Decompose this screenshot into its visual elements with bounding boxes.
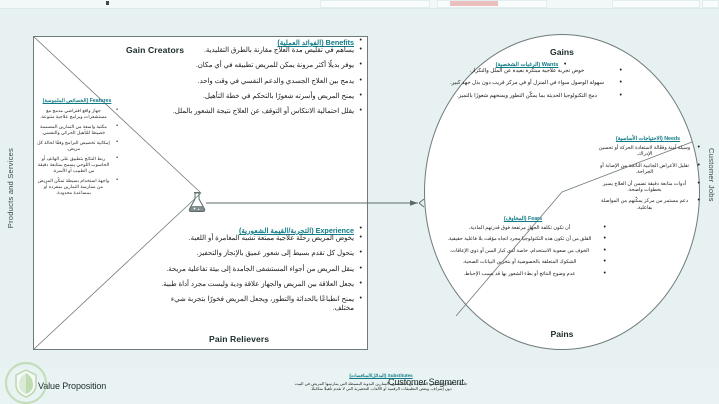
connector-arrow <box>206 198 428 210</box>
list-item: إمكانية تخصيص البرامج وفقًا لحالة كل مري… <box>36 140 118 152</box>
header-needs: Needs (الاحتياجات الأساسية) <box>596 136 700 142</box>
list-item: ربط النتائج بتطبيق على الهاتف أو الحاسوب… <box>36 156 118 174</box>
list-item: يدمج بين العلاج الجسدي والدعم النفسي في … <box>148 78 362 87</box>
label-products-and-services: Products and Services <box>6 148 15 228</box>
substitutes-text: جلسات العلاج الطبيعي التقليدية مع المختص… <box>292 381 470 392</box>
toolbar-highlight <box>450 1 498 6</box>
toolbar-cursor-mark <box>106 1 109 5</box>
list-item: عدم وضوح النتائج أو بطء الشعور بها قد يس… <box>440 271 606 277</box>
list-item: يجعل العلاقة بين المريض والجهاز علاقة ود… <box>148 281 362 290</box>
list-item: دمج التكنولوجيا الحديثة بما يمكّن التطور… <box>440 93 622 100</box>
wants-list: خوض تجربة علاجية مبتكرة بعيدة عن الملل و… <box>440 68 622 100</box>
list-item: الخوف من صعوبة الاستخدام، خاصة لدى كبار … <box>440 248 606 254</box>
toolbar-field-3[interactable] <box>612 0 700 8</box>
list-item: واجهة استخدام بسيطة تمكّن المريض من ممار… <box>36 178 118 196</box>
list-item: يخوض المريض رحلة علاجية ممتعة تشبه المغا… <box>148 235 362 244</box>
header-substitutes: Substitutes (البدائل/المنافسات) <box>292 373 470 379</box>
list-item: يتحول كل تقدم بسيط إلى شعور عميق بالإنجا… <box>148 250 362 259</box>
list-item: أن تكون تكلفة الجهاز مرتفعة فوق قدرتهم ا… <box>440 225 606 231</box>
caption-value-proposition: Value Proposition <box>38 381 106 391</box>
shield-leaf-logo <box>4 362 48 404</box>
experience-list: يخوض المريض رحلة علاجية ممتعة تشبه المغا… <box>148 235 362 314</box>
title-pain-relievers: Pain Relievers <box>209 334 269 344</box>
title-gains: Gains <box>425 47 699 57</box>
partial-toolbar-strip <box>0 0 719 9</box>
list-item: القلق من أن تكون هذه التكنولوجيا مجرد ات… <box>440 236 606 242</box>
flask-icon <box>186 190 208 214</box>
label-customer-jobs: Customer Jobs <box>707 148 716 202</box>
list-item: مكتبة واسعة من التمارين المصممة خصيصًا ل… <box>36 124 118 136</box>
header-benefits: Benefits (الفوائد العملية) <box>277 38 354 47</box>
section-needs: Needs (الاحتياجات الأساسية) وسيلة آمنة و… <box>596 136 700 216</box>
section-wants: Wants (الرغبات الشخصية) خوض تجربة علاجية… <box>440 62 622 105</box>
title-pains: Pains <box>425 329 699 339</box>
header-experience: Experience (التجربة/القيمة الشعورية) <box>239 226 354 235</box>
list-item: الشكوك المتعلقة بالخصوصية أو بتخزين البي… <box>440 259 606 265</box>
section-features: Features (الخصائص الملموسة) جهاز واقع اف… <box>36 98 118 200</box>
fears-list: أن تكون تكلفة الجهاز مرتفعة فوق قدرتهم ا… <box>440 225 606 277</box>
needs-list: وسيلة آمنة وفعّالة لاستعادة الحركة أو تح… <box>596 145 700 211</box>
benefits-list: يساهم في تقليص مدة العلاج مقارنة بالطرق … <box>148 47 362 117</box>
value-proposition-canvas: Products and Services Customer Jobs Gain… <box>0 0 719 404</box>
header-features: Features (الخصائص الملموسة) <box>36 98 118 105</box>
list-item: يساهم في تقليص مدة العلاج مقارنة بالطرق … <box>148 47 362 56</box>
list-item: يمنح انطباعًا بالحداثة والتطور، ويجعل ال… <box>148 296 362 314</box>
features-list: جهاز واقع افتراضي مدمج مع مستشعرات وبرام… <box>36 108 118 196</box>
list-item: يمنح المريض وأسرته شعورًا بالتحكم في خطة… <box>148 93 362 102</box>
section-experience: Experience (التجربة/القيمة الشعورية) يخو… <box>148 226 362 320</box>
toolbar-field-1[interactable] <box>320 0 430 8</box>
toolbar-field-4[interactable] <box>702 0 719 8</box>
list-item: دعم مستمر من مركز يمكّنهم من المواصلة بف… <box>596 198 700 211</box>
section-benefits: Benefits (الفوائد العملية) يساهم في تقلي… <box>148 38 362 124</box>
list-item: سهولة الوصول سواء في المنزل أو في مركز ق… <box>440 80 622 87</box>
section-fears: Fears (المخاوف) أن تكون تكلفة الجهاز مرت… <box>440 216 606 282</box>
list-item: يقلل احتمالية الانتكاس أو التوقف عن العل… <box>148 108 362 117</box>
list-item: خوض تجربة علاجية مبتكرة بعيدة عن الملل و… <box>440 68 622 75</box>
list-item: وسيلة آمنة وفعّالة لاستعادة الحركة أو تح… <box>596 145 700 158</box>
list-item: أدوات متابعة دقيقة تضمن أن العلاج يسير ب… <box>596 181 700 194</box>
list-item: تقليل الأعراض الجانبية الناتجة من الإصاب… <box>596 163 700 176</box>
header-fears: Fears (المخاوف) <box>440 216 606 222</box>
list-item: ينقل المريض من أجواء المستشفى الجامدة إل… <box>148 266 362 275</box>
list-item: جهاز واقع افتراضي مدمج مع مستشعرات وبرام… <box>36 108 118 120</box>
section-substitutes: Substitutes (البدائل/المنافسات) جلسات ال… <box>292 373 470 392</box>
list-item: يوفر بديلًا أكثر مرونة يمكن للمريض تطبيق… <box>148 62 362 71</box>
